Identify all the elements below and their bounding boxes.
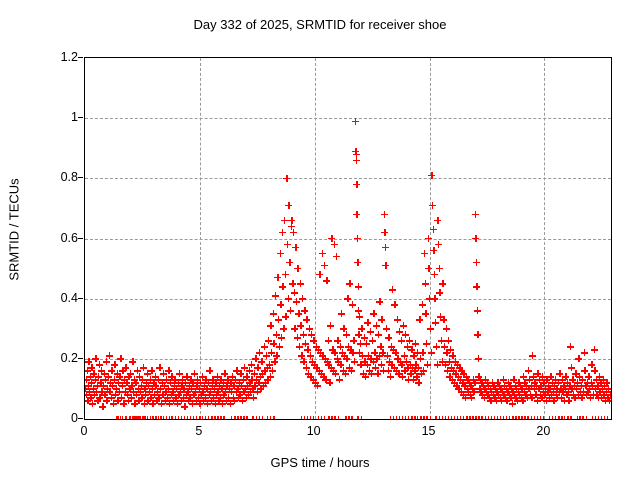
data-point <box>187 376 194 383</box>
data-point <box>394 355 401 362</box>
data-point <box>488 416 495 421</box>
data-point <box>351 358 358 365</box>
data-point <box>550 388 557 395</box>
data-point <box>210 394 217 401</box>
data-point <box>533 382 540 389</box>
data-point <box>462 394 469 401</box>
data-point <box>348 416 355 421</box>
data-point <box>325 361 332 368</box>
data-point <box>569 376 576 383</box>
data-point <box>240 416 247 421</box>
data-point <box>518 385 525 392</box>
data-point <box>147 376 154 383</box>
data-point <box>172 394 179 401</box>
data-point <box>557 385 564 392</box>
data-point <box>330 367 337 374</box>
data-point <box>571 394 578 401</box>
data-point <box>493 397 500 404</box>
data-point <box>355 283 362 290</box>
data-point <box>531 385 538 392</box>
y-axis-label: SRMTID / TECUs <box>7 140 22 320</box>
data-point <box>602 397 609 404</box>
data-point <box>182 379 189 386</box>
data-point <box>195 394 202 401</box>
data-point <box>113 416 120 421</box>
data-point <box>422 310 429 317</box>
data-point <box>152 373 159 380</box>
data-point <box>90 370 97 377</box>
data-point <box>370 310 377 317</box>
data-point <box>108 367 115 374</box>
data-point <box>578 382 585 389</box>
data-point <box>520 373 527 380</box>
data-point <box>436 265 443 272</box>
data-point <box>247 388 254 395</box>
x-tick-label: 10 <box>294 424 334 438</box>
data-point <box>346 364 353 371</box>
data-point <box>528 382 535 389</box>
data-point <box>417 355 424 362</box>
data-point <box>169 388 176 395</box>
data-point <box>296 343 303 350</box>
data-point <box>203 385 210 392</box>
data-point <box>321 262 328 269</box>
data-point <box>249 416 256 421</box>
data-point <box>427 416 434 421</box>
data-point <box>244 382 251 389</box>
data-point <box>408 346 415 353</box>
data-point <box>288 223 295 230</box>
data-point <box>99 403 106 410</box>
data-point <box>555 416 562 421</box>
data-point <box>600 376 607 383</box>
data-point <box>313 343 320 350</box>
data-point <box>440 316 447 323</box>
data-point <box>317 349 324 356</box>
data-point <box>388 343 395 350</box>
data-point <box>367 328 374 335</box>
data-point <box>567 416 574 421</box>
data-point <box>184 388 191 395</box>
data-point <box>206 367 213 374</box>
data-point <box>308 331 315 338</box>
data-point <box>418 370 425 377</box>
data-point <box>156 364 163 371</box>
data-point <box>297 280 304 287</box>
data-point <box>420 367 427 374</box>
data-point <box>131 400 138 407</box>
data-point <box>445 416 452 421</box>
data-point <box>606 397 612 404</box>
data-point <box>325 416 332 421</box>
data-point <box>214 373 221 380</box>
data-point <box>387 373 394 380</box>
data-point <box>482 416 489 421</box>
data-point <box>268 349 275 356</box>
data-point <box>167 379 174 386</box>
data-point <box>212 400 219 407</box>
data-point <box>469 385 476 392</box>
data-point <box>208 416 215 421</box>
data-point <box>584 388 591 395</box>
data-point <box>562 385 569 392</box>
data-point <box>107 379 114 386</box>
data-point <box>405 376 412 383</box>
data-point <box>185 397 192 404</box>
data-point <box>506 391 513 398</box>
data-point <box>603 379 610 386</box>
data-point <box>197 379 204 386</box>
data-point <box>434 217 441 224</box>
data-point <box>521 388 528 395</box>
data-point <box>505 379 512 386</box>
data-point <box>196 416 203 421</box>
data-point <box>248 376 255 383</box>
data-point <box>180 385 187 392</box>
data-point <box>562 373 569 380</box>
data-point <box>453 382 460 389</box>
data-point <box>163 376 170 383</box>
data-point <box>594 382 601 389</box>
data-point <box>302 340 309 347</box>
data-point <box>279 283 286 290</box>
data-point <box>148 367 155 374</box>
data-point <box>102 376 109 383</box>
data-point <box>196 385 203 392</box>
y-tick-label: 1.2 <box>34 50 78 64</box>
data-point <box>497 416 504 421</box>
data-point <box>442 361 449 368</box>
data-point <box>257 385 264 392</box>
data-point <box>443 349 450 356</box>
data-point <box>458 388 465 395</box>
data-point <box>531 416 538 421</box>
data-point <box>333 253 340 260</box>
data-point <box>372 364 379 371</box>
data-point <box>285 202 292 209</box>
data-point <box>489 379 496 386</box>
data-points-layer <box>85 58 611 419</box>
data-point <box>525 367 532 374</box>
data-point <box>234 385 241 392</box>
data-point <box>328 364 335 371</box>
data-point <box>256 416 263 421</box>
data-point <box>87 373 94 380</box>
data-point <box>576 416 583 421</box>
data-point <box>150 379 157 386</box>
data-point <box>355 307 362 314</box>
data-point <box>254 364 261 371</box>
data-point <box>270 416 277 421</box>
data-point <box>358 416 365 421</box>
data-point <box>417 416 424 421</box>
data-point <box>251 370 258 377</box>
data-point <box>262 379 269 386</box>
data-point <box>419 301 426 308</box>
data-point <box>604 394 611 401</box>
data-point <box>530 373 537 380</box>
data-point <box>131 376 138 383</box>
data-point <box>488 388 495 395</box>
data-point <box>346 280 353 287</box>
data-point <box>431 295 438 302</box>
data-point <box>246 379 253 386</box>
data-point <box>168 391 175 398</box>
data-point <box>240 376 247 383</box>
data-point <box>457 376 464 383</box>
data-point <box>492 385 499 392</box>
data-point <box>184 416 191 421</box>
data-point <box>233 367 240 374</box>
data-point <box>560 382 567 389</box>
data-point <box>171 382 178 389</box>
data-point <box>454 361 461 368</box>
data-point <box>537 382 544 389</box>
data-point <box>259 370 266 377</box>
data-point <box>315 346 322 353</box>
data-point <box>464 385 471 392</box>
data-point <box>304 416 311 421</box>
data-point <box>266 361 273 368</box>
data-point <box>250 394 257 401</box>
data-point <box>423 416 430 421</box>
data-point <box>134 416 141 421</box>
data-point <box>526 376 533 383</box>
data-point <box>455 385 462 392</box>
data-point <box>154 388 161 395</box>
data-point <box>221 370 228 377</box>
data-point <box>207 388 214 395</box>
data-point <box>254 388 261 395</box>
data-point <box>151 391 158 398</box>
data-point <box>139 376 146 383</box>
y-tick-label: 0.2 <box>34 351 78 365</box>
data-point <box>84 367 91 374</box>
data-point <box>267 322 274 329</box>
data-point <box>436 289 443 296</box>
data-point <box>370 358 377 365</box>
data-point <box>136 416 143 421</box>
data-point <box>160 370 167 377</box>
data-point <box>503 397 510 404</box>
data-point <box>275 316 282 323</box>
data-point <box>373 322 380 329</box>
data-point <box>223 397 230 404</box>
data-point <box>353 157 360 164</box>
data-point <box>353 151 360 158</box>
data-point <box>331 241 338 248</box>
data-point <box>111 361 118 368</box>
data-point <box>363 340 370 347</box>
data-point <box>470 388 477 395</box>
data-point <box>500 416 507 421</box>
data-point <box>438 337 445 344</box>
data-point <box>320 373 327 380</box>
data-point <box>231 416 238 421</box>
data-point <box>291 325 298 332</box>
data-point <box>314 382 321 389</box>
y-axis-ticks: 00.20.40.60.811.2 <box>30 57 78 418</box>
data-point <box>264 364 271 371</box>
data-point <box>402 416 409 421</box>
data-point <box>202 394 209 401</box>
data-point <box>414 416 421 421</box>
data-point <box>359 352 366 359</box>
data-point <box>199 388 206 395</box>
data-point <box>450 367 457 374</box>
data-point <box>202 376 209 383</box>
data-point <box>586 385 593 392</box>
data-point <box>152 416 159 421</box>
data-point <box>155 416 162 421</box>
data-point <box>114 370 121 377</box>
data-point <box>193 397 200 404</box>
data-point <box>143 379 150 386</box>
data-point <box>542 385 549 392</box>
data-point <box>273 352 280 359</box>
data-point <box>294 265 301 272</box>
data-point <box>603 388 610 395</box>
data-point <box>591 367 598 374</box>
data-point <box>306 325 313 332</box>
data-point <box>205 379 212 386</box>
data-point <box>175 379 182 386</box>
data-point <box>412 361 419 368</box>
data-point <box>364 361 371 368</box>
data-point <box>313 364 320 371</box>
data-point <box>193 382 200 389</box>
data-point <box>305 370 312 377</box>
data-point <box>536 376 543 383</box>
data-point <box>485 382 492 389</box>
data-point <box>140 364 147 371</box>
data-point <box>420 416 427 421</box>
data-point <box>300 331 307 338</box>
data-point <box>279 229 286 236</box>
data-point <box>543 397 550 404</box>
data-point <box>567 343 574 350</box>
data-point <box>220 379 227 386</box>
data-point <box>548 391 555 398</box>
data-point <box>384 352 391 359</box>
data-point <box>575 355 582 362</box>
data-point <box>460 370 467 377</box>
data-point <box>111 376 118 383</box>
data-point <box>539 373 546 380</box>
data-point <box>515 416 522 421</box>
y-tick-mark <box>78 358 83 359</box>
data-point <box>551 382 558 389</box>
data-point <box>365 352 372 359</box>
data-point <box>155 394 162 401</box>
data-point <box>155 376 162 383</box>
data-point <box>227 379 234 386</box>
data-point <box>395 370 402 377</box>
data-point <box>553 391 560 398</box>
data-point <box>484 391 491 398</box>
data-point <box>501 382 508 389</box>
data-point <box>293 298 300 305</box>
data-point <box>84 397 91 404</box>
data-point <box>528 416 535 421</box>
data-point <box>352 148 359 155</box>
data-point <box>442 416 449 421</box>
data-point <box>324 358 331 365</box>
data-point <box>209 376 216 383</box>
data-point <box>549 416 556 421</box>
data-point <box>196 400 203 407</box>
data-point <box>483 388 490 395</box>
data-point <box>94 397 101 404</box>
data-point <box>152 382 159 389</box>
data-point <box>186 394 193 401</box>
data-point <box>188 385 195 392</box>
data-point <box>570 391 577 398</box>
data-point <box>419 349 426 356</box>
data-point <box>103 397 110 404</box>
data-point <box>509 400 516 407</box>
data-point <box>405 416 412 421</box>
data-point <box>85 358 92 365</box>
data-point <box>558 416 565 421</box>
data-point <box>534 370 541 377</box>
data-point <box>574 379 581 386</box>
data-point <box>87 394 94 401</box>
data-point <box>524 394 531 401</box>
data-point <box>230 394 237 401</box>
data-point <box>449 352 456 359</box>
data-point <box>255 379 262 386</box>
data-point <box>226 385 233 392</box>
data-point <box>446 358 453 365</box>
data-point <box>335 416 342 421</box>
data-point <box>285 295 292 302</box>
data-point <box>274 274 281 281</box>
data-point <box>316 271 323 278</box>
data-point <box>392 349 399 356</box>
data-point <box>257 373 264 380</box>
data-point <box>129 358 136 365</box>
data-point <box>161 382 168 389</box>
data-point <box>587 394 594 401</box>
data-point <box>277 301 284 308</box>
data-point <box>249 385 256 392</box>
data-point <box>357 340 364 347</box>
data-point <box>459 379 466 386</box>
data-point <box>515 379 522 386</box>
x-tick-label: 15 <box>409 424 449 438</box>
data-point <box>175 416 182 421</box>
data-point <box>457 416 464 421</box>
data-point <box>576 373 583 380</box>
data-point <box>355 331 362 338</box>
data-point <box>323 277 330 284</box>
data-point <box>371 349 378 356</box>
data-point <box>206 391 213 398</box>
data-point <box>292 244 299 251</box>
data-point <box>245 391 252 398</box>
data-point <box>468 394 475 401</box>
data-point <box>241 364 248 371</box>
data-point <box>476 385 483 392</box>
data-point <box>407 370 414 377</box>
data-point <box>116 388 123 395</box>
data-point <box>546 385 553 392</box>
data-point <box>564 379 571 386</box>
data-point <box>101 370 108 377</box>
data-point <box>329 346 336 353</box>
data-point <box>373 355 380 362</box>
